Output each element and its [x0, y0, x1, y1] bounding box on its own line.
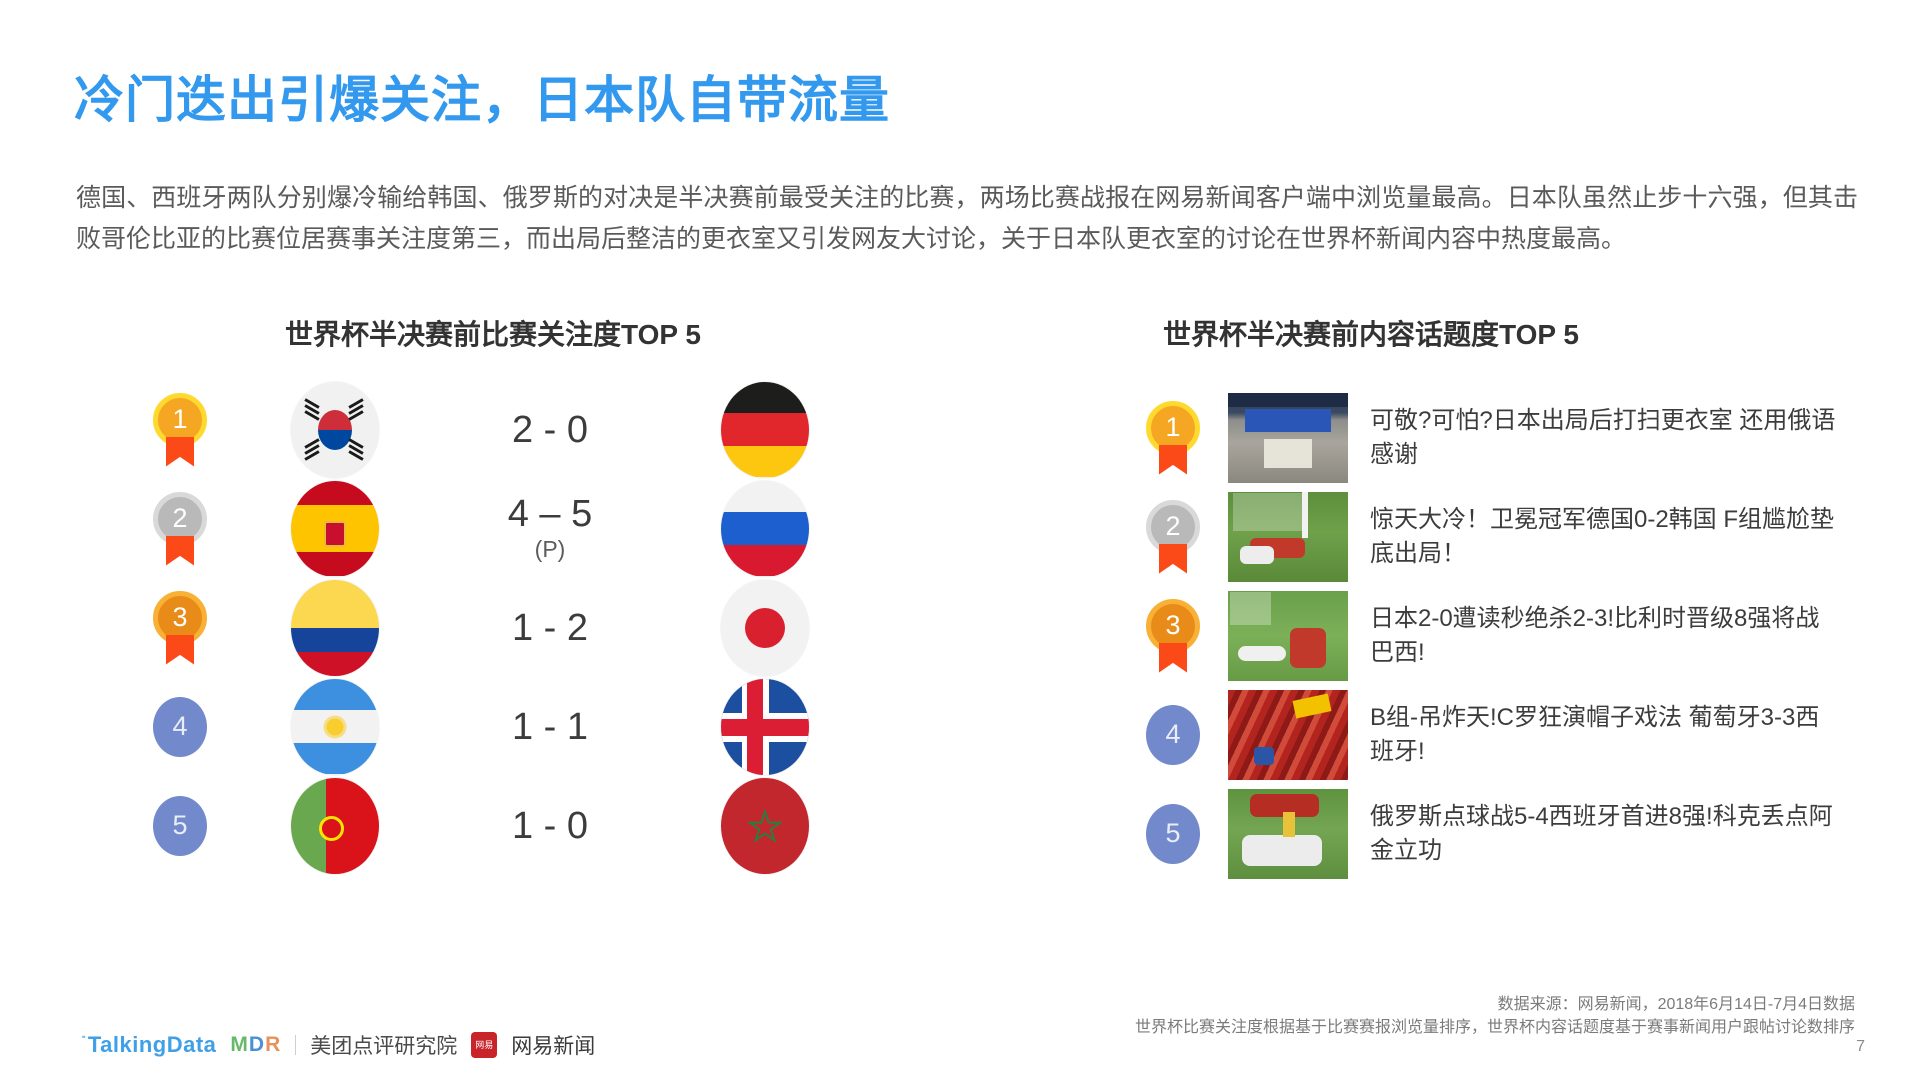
away-flag-cell [670, 778, 860, 874]
logo-dot: ˙ [80, 1032, 88, 1057]
flag-icon-russia [721, 481, 809, 577]
pentagram-icon [748, 809, 782, 843]
data-source-note: 数据来源：网易新闻，2018年6月14日-7月4日数据 [1498, 990, 1855, 1014]
home-flag-cell [240, 679, 430, 775]
score-note: (P) [430, 534, 670, 564]
ribbon-icon [166, 437, 194, 467]
flag-band [291, 552, 379, 577]
score-cell: 2 - 0 [430, 410, 670, 450]
flag-icon-germany [721, 382, 809, 478]
medal-badge-gold: 1 [1146, 401, 1200, 475]
news-row: 5 俄罗斯点球战5-4西班牙首进8强!科克丢点阿金立功 [1118, 784, 1898, 883]
rank-cell: 5 [120, 796, 240, 856]
thumb-shape [1302, 492, 1308, 539]
rank-badge-plain: 5 [153, 796, 207, 856]
news-title: 俄罗斯点球战5-4西班牙首进8强!科克丢点阿金立功 [1370, 800, 1840, 868]
flag-icon-portugal [291, 778, 379, 874]
away-flag-cell [670, 580, 860, 676]
rank-cell: 4 [120, 697, 240, 757]
rank-badge-plain: 4 [1146, 705, 1200, 765]
match-row: 3 1 - 2 [120, 578, 940, 677]
news-row: 1 可敬?可怕?日本出局后打扫更衣室 还用俄语感谢 [1118, 388, 1898, 487]
taeguk-symbol [318, 410, 352, 450]
match-row: 2 4 – 5 (P) [120, 479, 940, 578]
news-title: B组-吊炸天!C罗狂演帽子戏法 葡萄牙3-3西班牙! [1370, 701, 1840, 769]
slide: 冷门迭出引爆关注，日本队自带流量 德国、西班牙两队分别爆冷输给韩国、俄罗斯的对决… [0, 0, 1921, 1080]
news-title: 惊天大冷！卫冕冠军德国0-2韩国 F组尴尬垫底出局！ [1370, 503, 1840, 571]
flag-band [291, 652, 379, 676]
home-flag-cell [240, 481, 430, 577]
rank-cell: 1 [120, 393, 240, 467]
rank-cell: 5 [1118, 804, 1228, 864]
talkingdata-logo: ˙TalkingData [80, 1032, 216, 1058]
coat-of-arms-icon [319, 816, 344, 841]
rank-cell: 3 [1118, 599, 1228, 673]
away-flag-cell [670, 481, 860, 577]
netease-badge-icon: 网易 [471, 1032, 497, 1058]
flag-icon-morocco [721, 778, 809, 874]
flag-icon-south-korea [291, 382, 379, 478]
meituan-research-label: 美团点评研究院 [310, 1030, 457, 1060]
rank-badge-plain: 4 [153, 697, 207, 757]
cross-red [721, 719, 809, 736]
coat-of-arms-icon [324, 521, 346, 547]
flag-band [291, 628, 379, 652]
rank-cell: 1 [1118, 401, 1228, 475]
news-title: 日本2-0遭读秒绝杀2-3!比利时晋级8强将战巴西! [1370, 602, 1840, 670]
away-flag-cell [670, 382, 860, 478]
flag-band [721, 382, 809, 414]
match-row: 4 1 - 1 [120, 677, 940, 776]
left-section-heading: 世界杯半决赛前比赛关注度TOP 5 [285, 313, 701, 353]
rank-cell: 4 [1118, 705, 1228, 765]
medal-badge-gold: 1 [153, 393, 207, 467]
score-cell: 4 – 5 (P) [430, 494, 670, 564]
rank-badge-plain: 5 [1146, 804, 1200, 864]
thumb-shape [1230, 592, 1271, 624]
flag-icon-iceland [721, 679, 809, 775]
flag-icon-japan [721, 580, 809, 676]
medal-badge-bronze: 3 [153, 591, 207, 665]
ribbon-icon [166, 536, 194, 566]
lede-paragraph: 德国、西班牙两队分别爆冷输给韩国、俄罗斯的对决是半决赛前最受关注的比赛，两场比赛… [76, 178, 1858, 260]
news-row: 4 B组-吊炸天!C罗狂演帽子戏法 葡萄牙3-3西班牙! [1118, 685, 1898, 784]
flag-band [721, 481, 809, 513]
logo-divider [295, 1035, 296, 1055]
flag-band [721, 545, 809, 577]
news-thumbnail-celebration [1228, 789, 1348, 879]
medal-badge-bronze: 3 [1146, 599, 1200, 673]
match-attention-list: 1 [120, 380, 940, 875]
news-title: 可敬?可怕?日本出局后打扫更衣室 还用俄语感谢 [1370, 404, 1840, 472]
score-value: 1 - 2 [430, 608, 670, 648]
news-row: 3 日本2-0遭读秒绝杀2-3!比利时晋级8强将战巴西! [1118, 586, 1898, 685]
ribbon-icon [1159, 643, 1187, 673]
page-title: 冷门迭出引爆关注，日本队自带流量 [74, 60, 890, 132]
home-flag-cell [240, 778, 430, 874]
rank-cell: 3 [120, 591, 240, 665]
flag-band [291, 580, 379, 628]
methodology-note: 世界杯比赛关注度根据基于比赛赛报浏览量排序，世界杯内容话题度基于赛事新闻用户跟帖… [1135, 1013, 1855, 1037]
mdr-logo: MDR [230, 1033, 281, 1057]
ribbon-icon [1159, 544, 1187, 574]
news-row: 2 惊天大冷！卫冕冠军德国0-2韩国 F组尴尬垫底出局！ [1118, 487, 1898, 586]
thumb-shape [1283, 812, 1295, 837]
page-number: 7 [1856, 1038, 1865, 1056]
home-flag-cell [240, 382, 430, 478]
flag-band [291, 679, 379, 711]
thumb-shape [1264, 439, 1312, 468]
home-flag-cell [240, 580, 430, 676]
rank-cell: 2 [120, 492, 240, 566]
medal-badge-silver: 2 [1146, 500, 1200, 574]
flag-band [721, 446, 809, 478]
rising-sun-disc [745, 608, 785, 648]
cross-red [747, 679, 763, 775]
netease-news-label: 网易新闻 [511, 1030, 595, 1060]
score-value: 1 - 0 [430, 806, 670, 846]
thumb-shape [1290, 628, 1326, 668]
flag-band [721, 512, 809, 544]
score-value: 4 – 5 [430, 494, 670, 534]
talkingdata-logo-text: TalkingData [88, 1032, 217, 1057]
flag-band [721, 413, 809, 445]
news-thumbnail-fans [1228, 690, 1348, 780]
thumb-shape [1228, 393, 1348, 407]
match-row: 1 [120, 380, 940, 479]
flag-band [291, 743, 379, 775]
ribbon-icon [166, 635, 194, 665]
score-cell: 1 - 2 [430, 608, 670, 648]
footer-logos: ˙TalkingData MDR 美团点评研究院 网易 网易新闻 [80, 1030, 595, 1060]
topic-attention-list: 1 可敬?可怕?日本出局后打扫更衣室 还用俄语感谢 2 [1118, 388, 1898, 883]
flag-icon-colombia [291, 580, 379, 676]
rank-cell: 2 [1118, 500, 1228, 574]
score-value: 2 - 0 [430, 410, 670, 450]
thumb-shape [1293, 693, 1332, 718]
flag-band [291, 481, 379, 506]
mdr-letter-d: D [249, 1033, 265, 1056]
thumb-shape [1238, 646, 1286, 660]
right-section-heading: 世界杯半决赛前内容话题度TOP 5 [1163, 313, 1579, 353]
flag-icon-spain [291, 481, 379, 577]
sun-of-may-icon [327, 718, 344, 735]
thumb-shape [1254, 747, 1273, 765]
flag-icon-argentina [291, 679, 379, 775]
thumb-shape [1233, 493, 1305, 531]
mdr-letter-m: M [230, 1033, 249, 1056]
thumb-shape [1245, 409, 1331, 432]
score-cell: 1 - 0 [430, 806, 670, 846]
match-row: 5 1 - 0 [120, 776, 940, 875]
score-cell: 1 - 1 [430, 707, 670, 747]
news-thumbnail-goalmouth [1228, 492, 1348, 582]
news-thumbnail-pitch [1228, 591, 1348, 681]
thumb-shape [1242, 835, 1321, 866]
ribbon-icon [1159, 445, 1187, 475]
news-thumbnail-locker-room [1228, 393, 1348, 483]
away-flag-cell [670, 679, 860, 775]
mdr-letter-r: R [265, 1033, 281, 1056]
medal-badge-silver: 2 [153, 492, 207, 566]
score-value: 1 - 1 [430, 707, 670, 747]
thumb-shape [1240, 546, 1274, 564]
